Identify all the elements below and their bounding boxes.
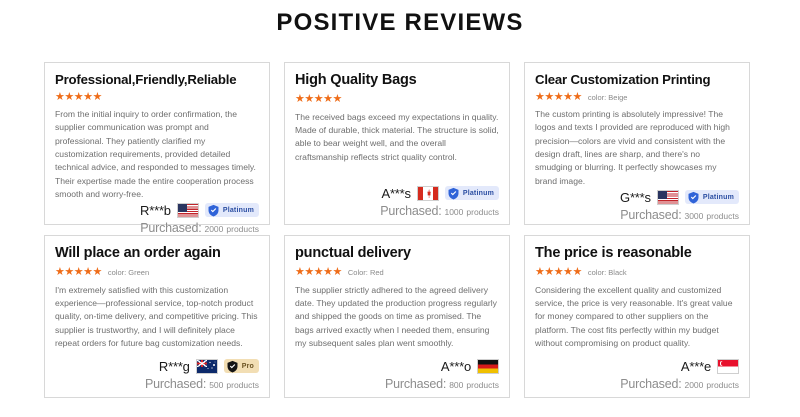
purchased-label: Purchased: — [620, 377, 681, 391]
review-title: punctual delivery — [295, 245, 499, 262]
flag-singapore — [717, 359, 739, 374]
purchased-count: 3000 — [684, 211, 703, 221]
star-icon: ★ — [295, 267, 304, 278]
purchased-row: Purchased:800products — [295, 377, 499, 391]
star-icon: ★ — [74, 92, 83, 103]
reviews-page: POSITIVE REVIEWS Professional,Friendly,R… — [0, 0, 800, 417]
star-icon: ★ — [563, 92, 572, 103]
purchased-row: Purchased:2000products — [55, 221, 259, 235]
star-icon: ★ — [64, 92, 73, 103]
star-icon: ★ — [563, 267, 572, 278]
reviewer-row: A***sPlatinum — [295, 184, 499, 202]
purchased-row: Purchased:3000products — [535, 208, 739, 222]
review-card[interactable]: High Quality Bags★★★★★The received bags … — [284, 62, 510, 225]
review-body: I'm extremely satisfied with this custom… — [55, 284, 259, 357]
star-icon: ★ — [544, 92, 553, 103]
purchased-unit: products — [466, 207, 499, 217]
reviewer-name: A***s — [381, 186, 410, 201]
flag-united-states — [177, 203, 199, 218]
star-icon: ★ — [83, 92, 92, 103]
verified-shield-icon — [207, 204, 220, 217]
purchased-label: Purchased: — [140, 221, 201, 235]
star-icon: ★ — [304, 267, 313, 278]
star-icon: ★ — [83, 267, 92, 278]
star-icon: ★ — [55, 267, 64, 278]
purchased-count: 2000 — [204, 224, 223, 234]
purchased-unit: products — [226, 224, 259, 234]
star-icon: ★ — [554, 92, 563, 103]
purchased-count: 800 — [449, 380, 463, 390]
purchased-row: Purchased:500products — [55, 377, 259, 391]
star-rating: ★★★★★ — [295, 94, 342, 105]
star-icon: ★ — [535, 92, 544, 103]
badge-label: Platinum — [703, 194, 734, 201]
review-body: The received bags exceed my expectations… — [295, 111, 499, 184]
purchased-row: Purchased:2000products — [535, 377, 739, 391]
star-rating: ★★★★★ — [55, 92, 102, 103]
platinum-badge: Platinum — [685, 190, 739, 204]
review-body: From the initial inquiry to order confir… — [55, 108, 259, 201]
star-icon: ★ — [304, 94, 313, 105]
reviewer-name: A***e — [681, 359, 711, 374]
reviewer-name: A***o — [441, 359, 471, 374]
review-body: Considering the excellent quality and cu… — [535, 284, 739, 357]
star-icon: ★ — [333, 94, 342, 105]
star-icon: ★ — [74, 267, 83, 278]
verified-shield-icon — [687, 191, 700, 204]
rating-row: ★★★★★color: Beige — [535, 92, 739, 103]
badge-label: Pro — [242, 363, 254, 370]
reviewer-row: A***o — [295, 357, 499, 375]
star-icon: ★ — [554, 267, 563, 278]
product-color-label: color: Green — [108, 268, 149, 277]
rating-row: ★★★★★ — [55, 92, 259, 103]
purchased-label: Purchased: — [380, 204, 441, 218]
review-cards-grid: Professional,Friendly,Reliable★★★★★From … — [44, 62, 750, 398]
review-footer: A***oPurchased:800products — [295, 357, 499, 391]
star-rating: ★★★★★ — [535, 92, 582, 103]
platinum-badge: Platinum — [445, 186, 499, 200]
star-rating: ★★★★★ — [295, 267, 342, 278]
review-card[interactable]: Professional,Friendly,Reliable★★★★★From … — [44, 62, 270, 225]
reviewer-row: R***bPlatinum — [55, 201, 259, 219]
star-icon: ★ — [295, 94, 304, 105]
reviewer-row: R***gPro — [55, 357, 259, 375]
star-icon: ★ — [323, 94, 332, 105]
star-icon: ★ — [573, 92, 582, 103]
reviewer-name: R***b — [140, 203, 171, 218]
flag-united-states — [657, 190, 679, 205]
purchased-label: Purchased: — [145, 377, 206, 391]
review-body: The supplier strictly adhered to the agr… — [295, 284, 499, 357]
purchased-count: 1000 — [444, 207, 463, 217]
purchased-count: 500 — [209, 380, 223, 390]
star-icon: ★ — [93, 267, 102, 278]
product-color-label: color: Black — [588, 268, 627, 277]
star-rating: ★★★★★ — [535, 267, 582, 278]
star-icon: ★ — [314, 267, 323, 278]
review-footer: R***bPlatinumPurchased:2000products — [55, 201, 259, 235]
star-icon: ★ — [55, 92, 64, 103]
review-title: Clear Customization Printing — [535, 72, 739, 87]
flag-germany — [477, 359, 499, 374]
review-title: The price is reasonable — [535, 245, 739, 262]
reviewer-row: A***e — [535, 357, 739, 375]
verified-shield-icon — [226, 360, 239, 373]
star-icon: ★ — [93, 92, 102, 103]
star-icon: ★ — [314, 94, 323, 105]
rating-row: ★★★★★ — [295, 94, 499, 106]
platinum-badge: Platinum — [205, 203, 259, 217]
page-title: POSITIVE REVIEWS — [0, 0, 800, 37]
purchased-label: Purchased: — [385, 377, 446, 391]
review-card[interactable]: Clear Customization Printing★★★★★color: … — [524, 62, 750, 225]
review-card[interactable]: punctual delivery★★★★★Color: RedThe supp… — [284, 235, 510, 398]
purchased-unit: products — [706, 380, 739, 390]
purchased-count: 2000 — [684, 380, 703, 390]
flag-canada — [417, 186, 439, 201]
review-card[interactable]: The price is reasonable★★★★★color: Black… — [524, 235, 750, 398]
reviewer-row: G***sPlatinum — [535, 188, 739, 206]
purchased-label: Purchased: — [620, 208, 681, 222]
flag-australia — [196, 359, 218, 374]
review-title: High Quality Bags — [295, 72, 499, 89]
star-icon: ★ — [535, 267, 544, 278]
rating-row: ★★★★★Color: Red — [295, 267, 499, 279]
star-icon: ★ — [323, 267, 332, 278]
purchased-unit: products — [706, 211, 739, 221]
star-icon: ★ — [333, 267, 342, 278]
pro-badge: Pro — [224, 359, 259, 373]
star-rating: ★★★★★ — [55, 267, 102, 278]
purchased-row: Purchased:1000products — [295, 204, 499, 218]
reviewer-name: G***s — [620, 190, 651, 205]
review-footer: R***gProPurchased:500products — [55, 357, 259, 391]
product-color-label: Color: Red — [348, 268, 384, 277]
review-footer: A***ePurchased:2000products — [535, 357, 739, 391]
rating-row: ★★★★★color: Black — [535, 267, 739, 279]
review-card[interactable]: Will place an order again★★★★★color: Gre… — [44, 235, 270, 398]
reviewer-name: R***g — [159, 359, 190, 374]
verified-shield-icon — [447, 187, 460, 200]
star-icon: ★ — [544, 267, 553, 278]
star-icon: ★ — [64, 267, 73, 278]
badge-label: Platinum — [223, 207, 254, 214]
purchased-unit: products — [226, 380, 259, 390]
star-icon: ★ — [573, 267, 582, 278]
purchased-unit: products — [466, 380, 499, 390]
review-title: Professional,Friendly,Reliable — [55, 72, 259, 87]
rating-row: ★★★★★color: Green — [55, 267, 259, 279]
review-body: The custom printing is absolutely impres… — [535, 108, 739, 188]
review-title: Will place an order again — [55, 245, 259, 262]
product-color-label: color: Beige — [588, 93, 628, 102]
review-footer: A***sPlatinumPurchased:1000products — [295, 184, 499, 218]
review-footer: G***sPlatinumPurchased:3000products — [535, 188, 739, 222]
badge-label: Platinum — [463, 190, 494, 197]
